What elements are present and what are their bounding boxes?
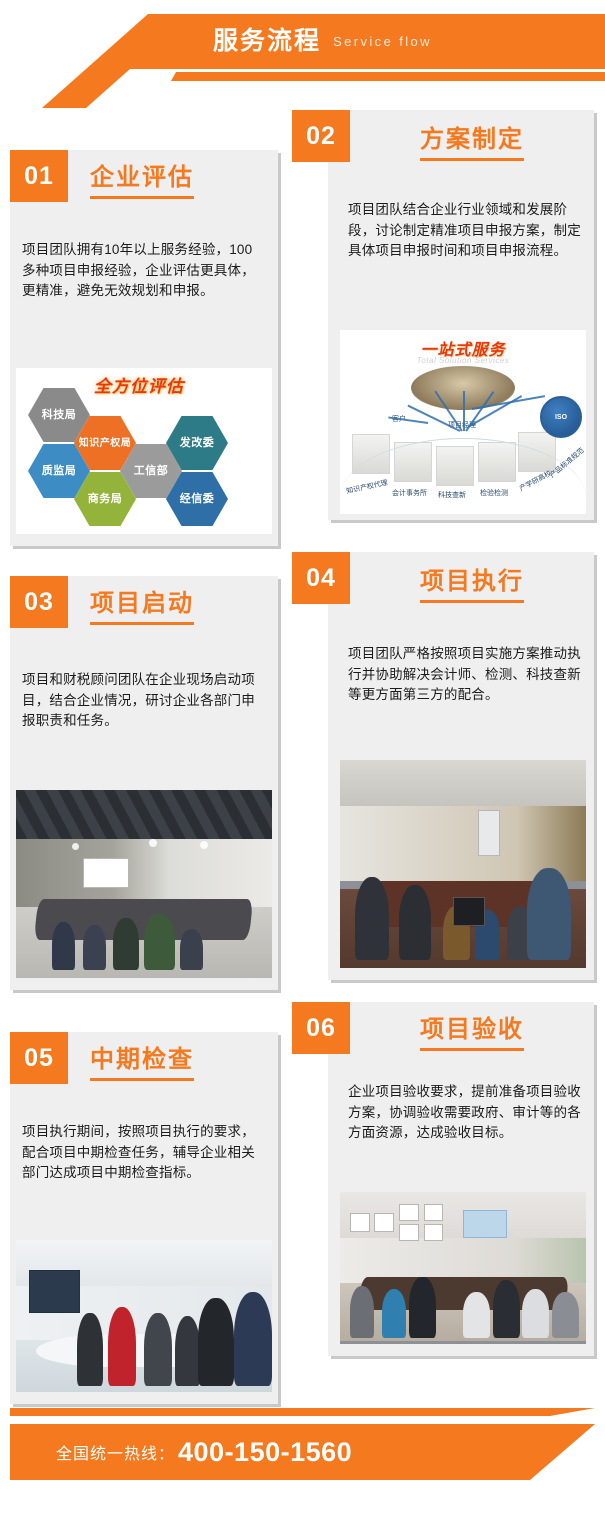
photo-whiteboard xyxy=(83,858,129,888)
photo-certificate xyxy=(374,1213,394,1231)
photo-light xyxy=(149,839,157,847)
photo-person xyxy=(355,877,389,960)
step-body-04: 项目团队严格按照项目实施方案推动执行并协助解决会计师、检测、科技查新等更方面第三… xyxy=(348,644,586,706)
photo-person xyxy=(113,918,139,971)
step-number-badge-04: 04 xyxy=(292,552,350,604)
photo-person xyxy=(175,1316,201,1386)
step-photo-06 xyxy=(340,1192,586,1344)
step-body-03: 项目和财税顾问团队在企业现场启动项目，结合企业情况，研讨企业各部门申报职责和任务… xyxy=(22,670,260,732)
step-title-02: 方案制定 xyxy=(420,128,524,161)
photo-projector-screen xyxy=(463,1210,507,1237)
step-media-02: 一站式服务 Total Solution Services 客户 项目经理 IS… xyxy=(340,330,586,514)
step-body-01: 项目团队拥有10年以上服务经验，100多种项目申报经验，企业评估更具体，更精准，… xyxy=(22,240,258,302)
step-number-badge-06: 06 xyxy=(292,1002,350,1054)
photo-certificate xyxy=(424,1224,444,1241)
photo-person xyxy=(108,1307,136,1386)
photo-person xyxy=(522,1289,549,1338)
service-arrow-4 xyxy=(463,391,465,431)
service-item-label-4: 检验检测 xyxy=(480,488,508,498)
hexagon-diagram-title: 全方位评估 xyxy=(94,372,184,397)
page-title-cn: 服务流程 xyxy=(213,29,321,54)
footer-hotline-label: 全国统一热线： xyxy=(56,1440,175,1464)
step-title-01: 企业评估 xyxy=(90,166,194,199)
photo-certificate xyxy=(399,1204,419,1221)
photo-certificate xyxy=(350,1213,370,1231)
step-title-03: 项目启动 xyxy=(90,592,194,625)
photo-aircon xyxy=(478,810,500,856)
step-photo-03 xyxy=(16,790,272,978)
footer-accent-stripe xyxy=(10,1408,595,1416)
photo-certificate xyxy=(424,1204,444,1221)
photo-person xyxy=(52,922,75,971)
step-number-badge-02: 02 xyxy=(292,110,350,162)
step-title-04: 项目执行 xyxy=(420,570,524,603)
hexagon-diagram: 全方位评估 科技局 知识产权局 质监局 工信部 商务局 发改委 经信委 xyxy=(16,368,272,534)
photo-light xyxy=(72,843,79,850)
photo-person xyxy=(399,885,431,960)
page-footer: 全国统一热线： 400-150-1560 xyxy=(0,1408,605,1538)
service-item-label-2: 会计事务所 xyxy=(392,488,427,498)
photo-person xyxy=(350,1286,375,1338)
step-body-05: 项目执行期间，按照项目执行的要求，配合项目中期检查任务，辅导企业相关部门达成项目… xyxy=(22,1122,260,1184)
photo-person xyxy=(144,1313,172,1386)
photo-person xyxy=(463,1292,490,1338)
footer-hotline: 全国统一热线： 400-150-1560 xyxy=(56,1424,352,1480)
photo-person xyxy=(382,1289,407,1338)
photo-display-screen xyxy=(29,1270,80,1313)
step-photo-04 xyxy=(340,760,586,968)
step-number-badge-03: 03 xyxy=(10,576,68,628)
service-item-label-3: 科技查新 xyxy=(438,490,466,500)
page-title-en: Service flow xyxy=(333,35,432,48)
photo-person xyxy=(83,925,106,970)
photo-person xyxy=(198,1298,234,1386)
photo-person xyxy=(234,1292,272,1386)
photo-person xyxy=(144,914,175,970)
photo-ceiling xyxy=(340,760,586,806)
photo-person xyxy=(552,1292,579,1338)
photo-wall xyxy=(16,839,272,907)
step-number-badge-01: 01 xyxy=(10,150,68,202)
step-title-05: 中期检查 xyxy=(90,1048,194,1081)
step-title-06: 项目验收 xyxy=(420,1018,524,1051)
step-photo-05 xyxy=(16,1240,272,1392)
photo-certificate xyxy=(399,1224,419,1241)
photo-person xyxy=(409,1277,436,1338)
service-diagram: 一站式服务 Total Solution Services 客户 项目经理 IS… xyxy=(340,330,586,514)
step-body-06: 企业项目验收要求，提前准备项目验收方案，协调验收需要政府、审计等的各方面资源，达… xyxy=(348,1082,586,1144)
service-diagram-subtitle: Total Solution Services xyxy=(417,356,510,365)
service-iso-seal: ISO xyxy=(540,396,582,438)
page-header: 服务流程 Service flow xyxy=(0,0,605,108)
photo-person xyxy=(180,929,203,970)
photo-person xyxy=(77,1313,103,1386)
step-media-01: 全方位评估 科技局 知识产权局 质监局 工信部 商务局 发改委 经信委 xyxy=(16,368,272,534)
photo-person xyxy=(493,1280,520,1338)
photo-person xyxy=(527,868,571,960)
photo-laptop xyxy=(453,897,485,926)
header-title-group: 服务流程 Service flow xyxy=(0,14,605,69)
step-body-02: 项目团队结合企业行业领域和发展阶段，讨论制定精准项目申报方案，制定具体项目申报时… xyxy=(348,200,584,262)
footer-hotline-number[interactable]: 400-150-1560 xyxy=(178,1437,352,1468)
photo-ceiling xyxy=(16,790,272,839)
step-number-badge-05: 05 xyxy=(10,1032,68,1084)
